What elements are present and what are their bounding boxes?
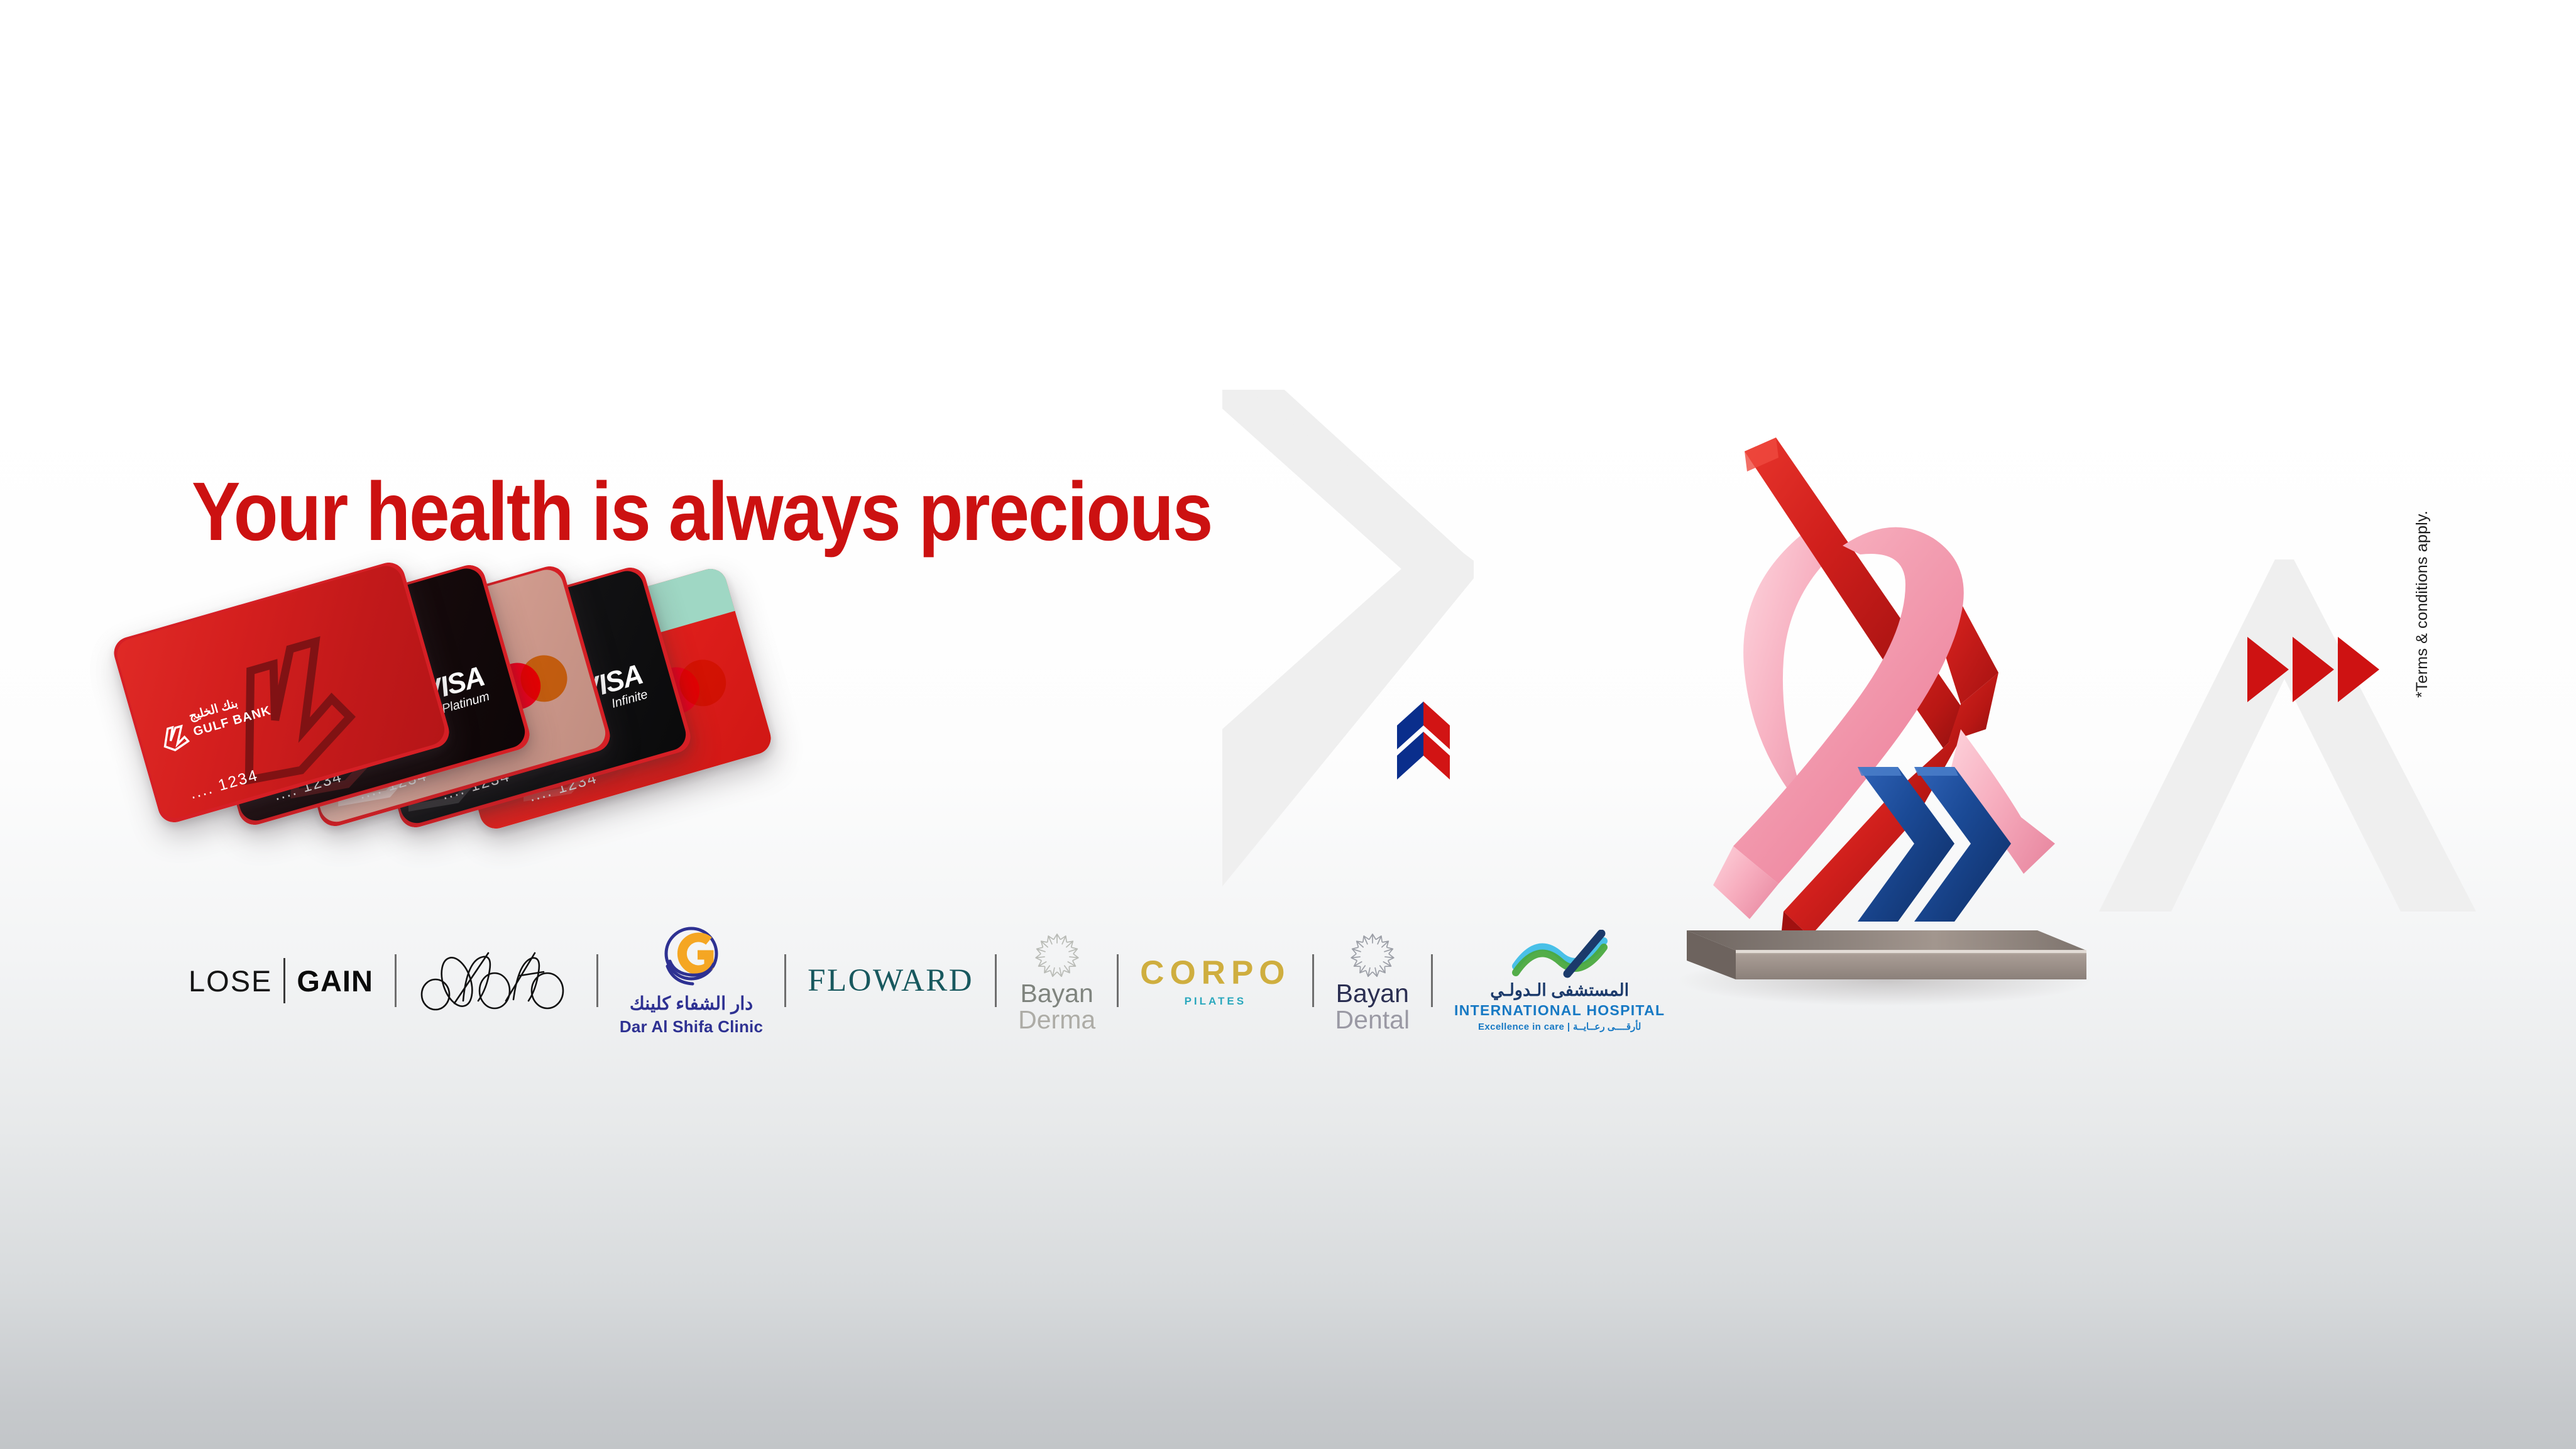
international-hospital-ribbon-icon: [1510, 930, 1610, 979]
hero-sculpture: [1621, 377, 2137, 1025]
gulf-bank-chevron-icon: [1376, 697, 1471, 785]
clinic-name-arabic: دار الشفاء كلينك: [630, 993, 753, 1015]
partner-logo-corpo-pilates: CORPO PILATES: [1140, 927, 1290, 1034]
partner-logo-bayan-dental: Bayan Dental: [1335, 927, 1410, 1034]
red-triangle-arrows-icon: [2244, 632, 2382, 707]
hospital-name-arabic: المستشفى الـدولـي: [1490, 981, 1629, 1000]
tagline-en: Excellence in care: [1478, 1022, 1564, 1032]
script-monogram-icon: [418, 943, 575, 1018]
divider: [283, 958, 285, 1003]
tagline-sep: |: [1567, 1022, 1573, 1032]
bayan-dental-line2: Dental: [1335, 1006, 1410, 1033]
partner-logo-bayan-derma: Bayan Derma: [1018, 927, 1095, 1034]
partner-logo-script-monogram: [418, 927, 575, 1034]
logo-divider: [995, 954, 997, 1007]
corpo-tagline: PILATES: [1185, 995, 1247, 1008]
terms-and-conditions-note: *Terms & conditions apply.: [2413, 510, 2431, 698]
bayan-derma-line1: Bayan: [1021, 981, 1093, 1006]
chevron-watermark-left-icon: [1194, 390, 1483, 905]
floward-wordmark: FLOWARD: [808, 962, 973, 999]
logo-divider: [784, 954, 786, 1007]
gain-label: GAIN: [297, 964, 373, 998]
logo-divider: [1431, 954, 1433, 1007]
promo-banner: Your health is always precious Prepaid .…: [0, 0, 2576, 1449]
logo-divider: [1117, 954, 1119, 1007]
bayan-derma-line2: Derma: [1018, 1006, 1095, 1033]
bayan-burst-icon: [1028, 928, 1086, 981]
partner-logo-floward: FLOWARD: [808, 927, 973, 1034]
bayan-dental-line1: Bayan: [1336, 981, 1409, 1006]
chevron-watermark-right-icon: [2086, 553, 2495, 930]
logo-divider: [395, 954, 397, 1007]
gulf-bank-mark-icon: [156, 722, 191, 756]
lose-label: LOSE: [189, 964, 272, 998]
page-title: Your health is always precious: [192, 468, 1212, 556]
logo-divider: [1312, 954, 1314, 1007]
card-fan: Prepaid .... 1234 Priority VISA Infinite…: [189, 588, 817, 852]
bayan-burst-icon: [1344, 928, 1401, 981]
corpo-wordmark: CORPO: [1140, 954, 1290, 992]
hospital-tagline: Excellence in care | لأرقــــى رعــايــة: [1478, 1021, 1641, 1032]
partner-logo-strip: LOSE GAIN: [189, 921, 1665, 1040]
dar-al-shifa-mark-icon: [656, 925, 726, 990]
partner-logo-dar-al-shifa-clinic: دار الشفاء كلينك Dar Al Shifa Clinic: [620, 927, 763, 1034]
clinic-name-english: Dar Al Shifa Clinic: [620, 1017, 763, 1037]
partner-logo-lose-gain: LOSE GAIN: [189, 927, 373, 1034]
logo-divider: [596, 954, 598, 1007]
